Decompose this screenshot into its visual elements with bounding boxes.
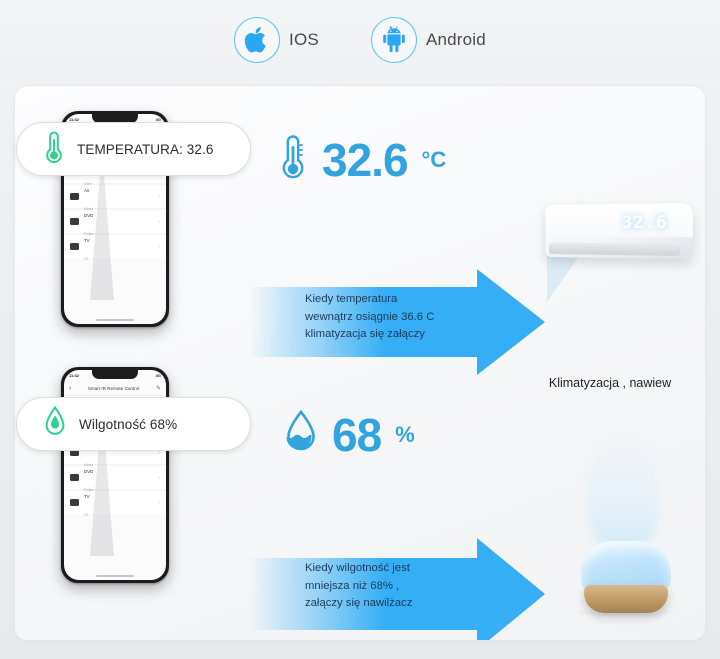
thermometer-icon	[278, 133, 308, 186]
humidity-condition-text: Kiedy wilgotność jest mniejsza niż 68% ,…	[305, 560, 485, 613]
android-icon	[371, 17, 417, 63]
temperature-callout-pill: TEMPERATURA: 32.6	[16, 122, 251, 176]
apple-icon	[234, 17, 280, 63]
temperature-value: 32.6	[322, 137, 408, 183]
air-conditioner-label: Klimatyzacja , nawiew	[510, 376, 706, 390]
chevron-right-icon: ›	[158, 194, 160, 200]
humidity-callout-text: Wilgotność 68%	[79, 417, 177, 432]
device-brand: LG	[84, 513, 89, 517]
platform-android-label: Android	[426, 30, 486, 50]
home-indicator	[96, 575, 134, 577]
humidity-flow-arrow: Kiedy wilgotność jest mniejsza niż 68% ,…	[249, 538, 545, 641]
status-time: 11:32	[69, 373, 79, 378]
mist-plume	[587, 431, 659, 556]
back-icon[interactable]: ‹	[69, 385, 71, 392]
chevron-right-icon: ›	[158, 244, 160, 250]
temperature-condition-text: Kiedy temperatura wewnątrz osiągnie 36.6…	[305, 291, 485, 344]
device-icon	[70, 243, 79, 250]
device-name: DVD	[84, 469, 93, 474]
humidity-value: 68	[332, 412, 381, 458]
device-icon	[70, 218, 79, 225]
platform-ios-label: IOS	[289, 30, 319, 50]
droplet-icon	[43, 405, 67, 444]
humidifier-unit	[581, 541, 671, 613]
device-brand: LG	[84, 257, 89, 261]
temperature-flow-arrow: Kiedy temperatura wewnątrz osiągnie 36.6…	[249, 269, 545, 375]
device-icon	[70, 499, 79, 506]
share-icon[interactable]: ✎	[156, 385, 161, 392]
platform-android[interactable]: Android	[371, 17, 486, 63]
phone-notch	[92, 370, 138, 379]
device-icon	[70, 474, 79, 481]
ac-vent	[549, 243, 680, 256]
temperature-unit: °C	[422, 147, 447, 173]
droplet-icon	[284, 409, 318, 460]
chevron-right-icon: ›	[158, 475, 160, 481]
humidifier-illustration	[559, 431, 699, 631]
device-name: DVD	[84, 213, 93, 218]
air-conditioner-illustration: 32.6	[531, 176, 701, 326]
airflow-cone	[547, 256, 579, 302]
ac-led-display: 32.6	[622, 212, 668, 233]
platform-bar: IOS Android	[0, 0, 720, 80]
thermometer-icon	[43, 130, 65, 169]
status-indicators: 4G	[156, 373, 161, 378]
home-indicator	[96, 319, 134, 321]
list-item[interactable]: TV LG ›	[64, 235, 166, 258]
ac-unit: 32.6	[545, 203, 693, 259]
device-name: Air	[84, 188, 89, 193]
list-item[interactable]: TV LG ›	[64, 491, 166, 514]
humidity-readout: 68 %	[284, 409, 415, 460]
device-icon	[70, 193, 79, 200]
phone-nav-title: Smart IR Remote Control	[75, 386, 152, 391]
humidity-unit: %	[395, 422, 415, 448]
humidity-callout-pill: Wilgotność 68%	[16, 397, 251, 451]
phone-nav-bar: ‹ Smart IR Remote Control ✎	[64, 381, 166, 396]
chevron-right-icon: ›	[158, 500, 160, 506]
chevron-right-icon: ›	[158, 219, 160, 225]
ac-top-panel	[545, 203, 693, 237]
platform-ios[interactable]: IOS	[234, 17, 319, 63]
humidifier-shadow	[575, 607, 675, 618]
device-name: TV	[84, 494, 90, 499]
temperature-callout-text: TEMPERATURA: 32.6	[77, 142, 213, 157]
temperature-readout: 32.6 °C	[278, 133, 446, 186]
device-name: TV	[84, 238, 90, 243]
